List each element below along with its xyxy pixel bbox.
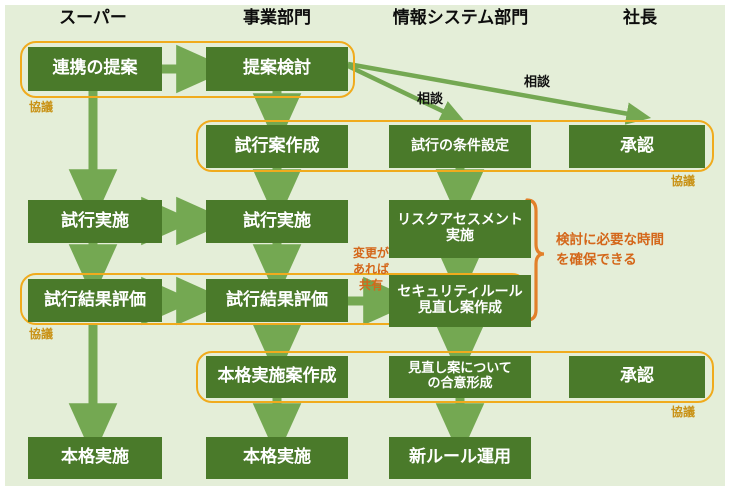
annotation-soudan-1: 相談	[417, 93, 443, 106]
annotation-henko-line1: 変更が	[345, 246, 397, 260]
column-header-super: スーパー	[33, 10, 153, 27]
column-header-gyomu: 事業部門	[217, 10, 337, 27]
group-label-kyogi-4: 協議	[671, 406, 695, 418]
box-shiko-kekka-super[interactable]: 試行結果評価	[28, 279, 162, 322]
annotation-henko-line2: あれば	[345, 262, 397, 276]
box-honkaku-jisshi-gyomu[interactable]: 本格実施	[206, 437, 348, 479]
group-label-kyogi-1: 協議	[29, 101, 53, 113]
box-risk-assessment[interactable]: リスクアセスメント実施	[389, 200, 531, 258]
box-shiko-an-sakusei[interactable]: 試行案作成	[206, 125, 348, 168]
box-shiko-jisshi-super[interactable]: 試行実施	[28, 200, 162, 243]
box-shiko-jisshi-gyomu[interactable]: 試行実施	[206, 200, 348, 243]
box-honkaku-jisshi-super[interactable]: 本格実施	[28, 437, 162, 479]
box-shiko-kekka-gyomu[interactable]: 試行結果評価	[206, 279, 348, 322]
annotation-soudan-2: 相談	[524, 76, 550, 89]
box-honkaku-an[interactable]: 本格実施案作成	[206, 356, 348, 398]
box-goi-keisei[interactable]: 見直し案についての合意形成	[389, 356, 531, 398]
group-label-kyogi-3: 協議	[29, 328, 53, 340]
box-shin-rule[interactable]: 新ルール運用	[389, 437, 531, 479]
box-teian-kento[interactable]: 提案検討	[206, 47, 348, 91]
group-label-kyogi-2: 協議	[671, 175, 695, 187]
column-header-joho: 情報システム部門	[368, 10, 553, 27]
box-security-rule[interactable]: セキュリティルール見直し案作成	[389, 275, 531, 327]
column-header-shacho: 社長	[590, 10, 690, 27]
annotation-brace-line1: 検討に必要な時間	[556, 232, 664, 250]
box-renkei-teian[interactable]: 連携の提案	[28, 47, 162, 91]
annotation-henko-line3: 共有	[345, 278, 397, 292]
flow-diagram-root: スーパー 事業部門 情報システム部門 社長 協議 協議 協議 協議 連携の提案 …	[0, 0, 730, 491]
annotation-brace-line2: を確保できる	[556, 252, 637, 270]
box-shiko-joken[interactable]: 試行の条件設定	[389, 125, 531, 168]
box-shonin-2[interactable]: 承認	[569, 356, 705, 398]
box-shonin-1[interactable]: 承認	[569, 125, 705, 168]
